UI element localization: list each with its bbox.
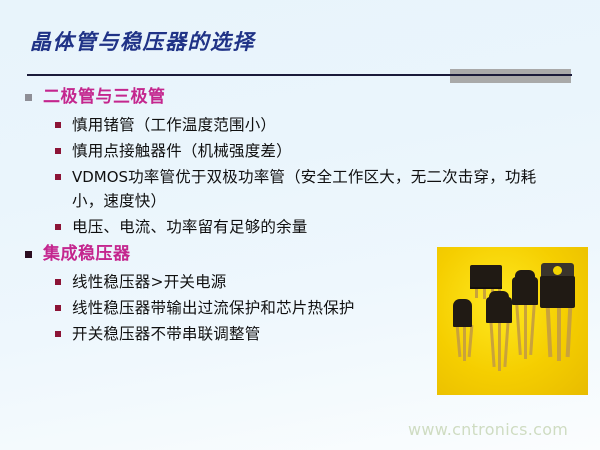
list-item-label: 二极管与三极管 bbox=[43, 87, 166, 107]
watermark-text: www.cntronics.com bbox=[408, 420, 568, 439]
square-bullet-icon bbox=[55, 148, 61, 154]
list-item-label: 开关稳压器不带串联调整管 bbox=[72, 325, 260, 343]
list-item-label-latin: VDMOS bbox=[72, 168, 128, 186]
device-body-to126 bbox=[512, 277, 538, 305]
list-item: 二极管与三极管 bbox=[0, 84, 600, 110]
page-title: 晶体管与稳压器的选择 bbox=[30, 26, 255, 56]
square-bullet-icon bbox=[55, 224, 61, 230]
list-item: 慎用点接触器件（机械强度差） bbox=[0, 139, 600, 163]
list-item-label: 慎用点接触器件（机械强度差） bbox=[72, 142, 292, 160]
square-bullet-icon bbox=[55, 305, 61, 311]
list-item-label: 集成稳压器 bbox=[43, 244, 131, 264]
device-mount-hole bbox=[553, 266, 562, 275]
device-lead bbox=[524, 303, 527, 359]
divider-line bbox=[27, 74, 572, 76]
square-bullet-icon bbox=[25, 251, 32, 258]
device-lead bbox=[463, 325, 466, 361]
device-body-to92 bbox=[453, 305, 472, 327]
square-bullet-icon bbox=[55, 331, 61, 337]
list-item-label: 慎用锗管（工作温度范围小） bbox=[72, 116, 276, 134]
list-item: VDMOS功率管优于双极功率管（安全工作区大，无二次击穿，功耗小，速度快） bbox=[0, 165, 600, 213]
square-bullet-icon bbox=[55, 122, 61, 128]
list-item-label: 线性稳压器带输出过流保护和芯片热保护 bbox=[72, 299, 355, 317]
square-bullet-icon bbox=[55, 174, 61, 180]
list-item: 电压、电流、功率留有足够的余量 bbox=[0, 215, 600, 239]
device-lead bbox=[498, 321, 501, 371]
device-lead bbox=[557, 305, 561, 361]
square-bullet-icon bbox=[55, 279, 61, 285]
square-bullet-icon bbox=[25, 94, 32, 101]
list-item-label: 线性稳压器>开关电源 bbox=[72, 273, 227, 291]
device-body-to220 bbox=[540, 276, 575, 308]
transistor-packages-image bbox=[437, 247, 588, 395]
accent-block bbox=[450, 69, 571, 83]
slide-canvas: 晶体管与稳压器的选择 二极管与三极管 慎用锗管（工作温度范围小） 慎用点接触器件… bbox=[0, 0, 600, 450]
list-item-label: 电压、电流、功率留有足够的余量 bbox=[72, 218, 308, 236]
list-item-label: 功率管优于双极功率管（安全工作区大，无二次击穿，功耗小，速度快） bbox=[72, 168, 536, 210]
device-body-to126 bbox=[486, 297, 512, 323]
list-item: 慎用锗管（工作温度范围小） bbox=[0, 113, 600, 137]
title-divider bbox=[0, 66, 600, 86]
device-body-dip bbox=[470, 265, 502, 287]
